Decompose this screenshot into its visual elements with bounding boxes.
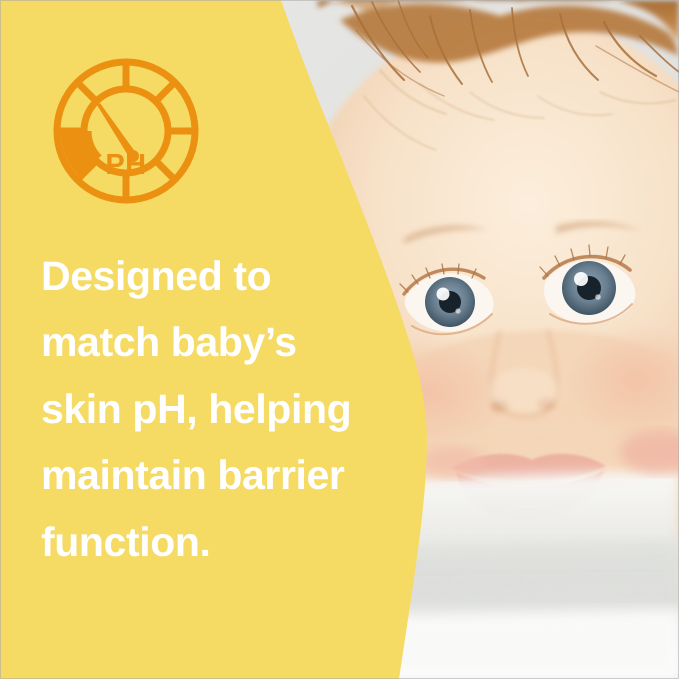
headline-line-5: function. — [41, 509, 416, 575]
panel-content: PH Designed to match baby’s skin pH, hel… — [0, 0, 679, 679]
headline-line-4: maintain barrier — [41, 442, 416, 508]
headline-line-2: match baby’s — [41, 309, 416, 375]
headline-line-1: Designed to — [41, 243, 416, 309]
headline-line-3: skin pH, helping — [41, 376, 416, 442]
ph-gauge-drawing: PH — [50, 55, 202, 207]
headline: Designed to match baby’s skin pH, helpin… — [41, 243, 416, 575]
promo-banner: PH Designed to match baby’s skin pH, hel… — [0, 0, 679, 679]
gauge-ph-label: PH — [105, 149, 146, 181]
ph-gauge-icon: PH — [50, 55, 202, 207]
